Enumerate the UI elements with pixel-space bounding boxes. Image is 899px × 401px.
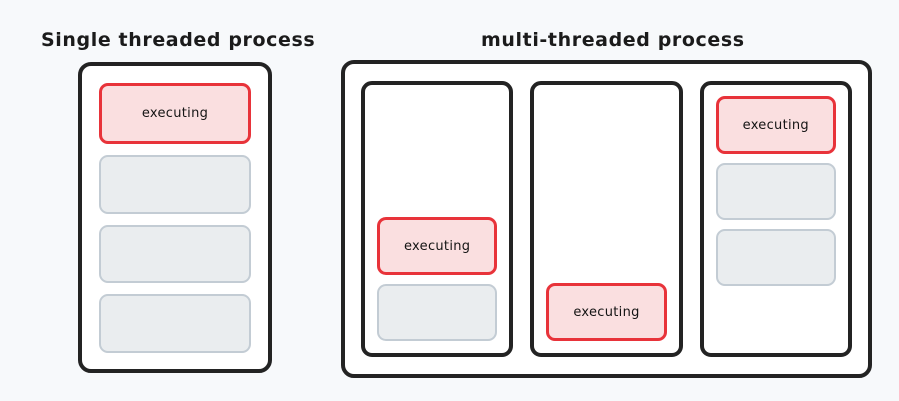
thread-lane-1-spacer <box>377 96 497 208</box>
thread-lane-2: executing <box>530 81 682 357</box>
thread-3-block-idle-1 <box>716 163 836 220</box>
single-block-executing: executing <box>99 83 251 144</box>
thread-3-block-executing: executing <box>716 96 836 154</box>
thread-lane-row: executing executing executing <box>361 81 852 357</box>
single-block-executing-label: executing <box>142 106 208 121</box>
thread-lane-2-spacer <box>546 96 666 274</box>
thread-3-block-executing-label: executing <box>743 118 809 133</box>
single-block-idle-1 <box>99 155 251 214</box>
multi-threaded-process-frame: executing executing executing <box>341 60 872 378</box>
thread-lane-1: executing <box>361 81 513 357</box>
thread-lane-3-spacer <box>716 295 836 341</box>
thread-3-block-idle-2 <box>716 229 836 286</box>
thread-2-block-executing-label: executing <box>573 305 639 320</box>
single-block-idle-2 <box>99 225 251 284</box>
single-thread-block-column: executing <box>99 83 251 353</box>
thread-1-block-executing-label: executing <box>404 239 470 254</box>
thread-1-block-idle-1 <box>377 284 497 341</box>
thread-2-block-executing: executing <box>546 283 666 341</box>
single-threaded-process-frame: executing <box>78 62 272 373</box>
multi-threaded-title: multi-threaded process <box>481 29 745 51</box>
single-block-idle-3 <box>99 294 251 353</box>
thread-lane-3: executing <box>700 81 852 357</box>
single-threaded-title: Single threaded process <box>41 29 315 51</box>
thread-1-block-executing: executing <box>377 217 497 275</box>
diagram-canvas: Single threaded process executing multi-… <box>0 0 899 401</box>
